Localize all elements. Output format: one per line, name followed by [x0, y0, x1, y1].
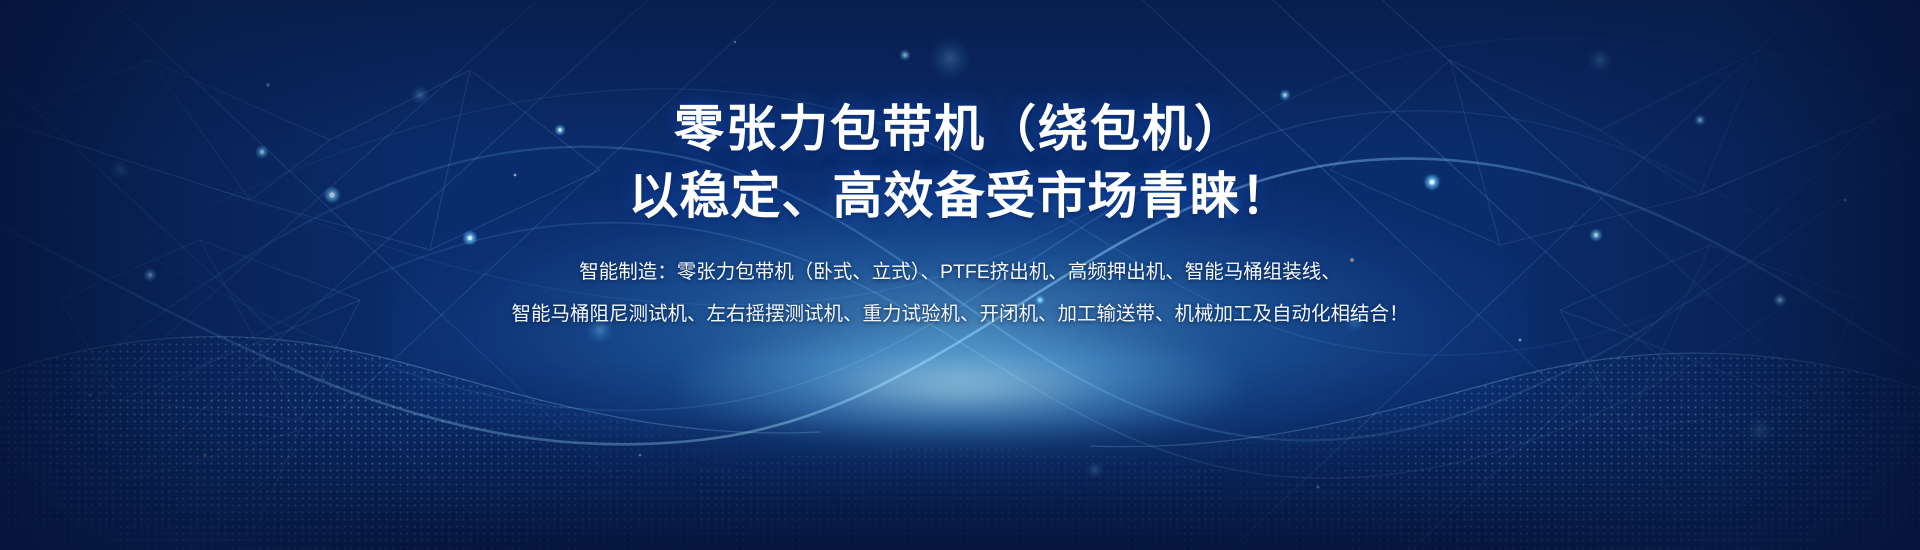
- banner-subtitle-line-2: 智能马桶阻尼测试机、左右摇摆测试机、重力试验机、开闭机、加工输送带、机械加工及自…: [511, 293, 1408, 335]
- banner-subtitle-line-1: 智能制造：零张力包带机（卧式、立式）、PTFE挤出机、高频押出机、智能马桶组装线…: [579, 251, 1341, 293]
- banner-content: 零张力包带机（绕包机） 以稳定、高效备受市场青睐！ 智能制造：零张力包带机（卧式…: [0, 0, 1920, 550]
- banner-title-line-2: 以稳定、高效备受市场青睐！: [629, 165, 1292, 227]
- banner-title-line-1: 零张力包带机（绕包机）: [674, 98, 1246, 160]
- hero-banner: 零张力包带机（绕包机） 以稳定、高效备受市场青睐！ 智能制造：零张力包带机（卧式…: [0, 0, 1920, 550]
